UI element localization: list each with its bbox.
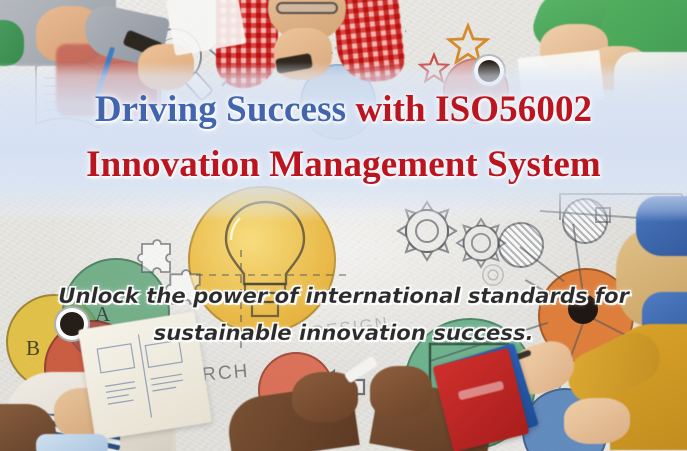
background-photo: INSPIRATION RESEARCH DESIGN A B xyxy=(0,0,687,451)
title-segment-red: with ISO56002 xyxy=(355,89,592,130)
title-segment-red-2: Innovation Management System xyxy=(86,144,601,185)
person-blue-shirt-right xyxy=(636,196,687,256)
hand-right-bottom-b xyxy=(564,398,630,444)
subtitle-block: Unlock the power of international standa… xyxy=(0,278,687,352)
hand-dark-right xyxy=(370,366,432,418)
person-bottom-left-corner-cuff xyxy=(36,434,108,451)
subtitle-line-2: sustainable innovation success. xyxy=(0,315,687,352)
title-line-2: Innovation Management System xyxy=(0,137,687,192)
star-outline-icon-2 xyxy=(418,52,450,84)
coffee-liquid-top xyxy=(478,60,500,82)
title-segment-blue: Driving Success xyxy=(95,89,356,130)
eyeglasses-icon xyxy=(276,2,338,14)
subtitle-line-1: Unlock the power of international standa… xyxy=(0,278,687,315)
title-block: Driving Success with ISO56002 Innovation… xyxy=(0,82,687,192)
iso56002-promo-banner: INSPIRATION RESEARCH DESIGN A B xyxy=(0,0,687,451)
title-line-1: Driving Success with ISO56002 xyxy=(0,82,687,137)
